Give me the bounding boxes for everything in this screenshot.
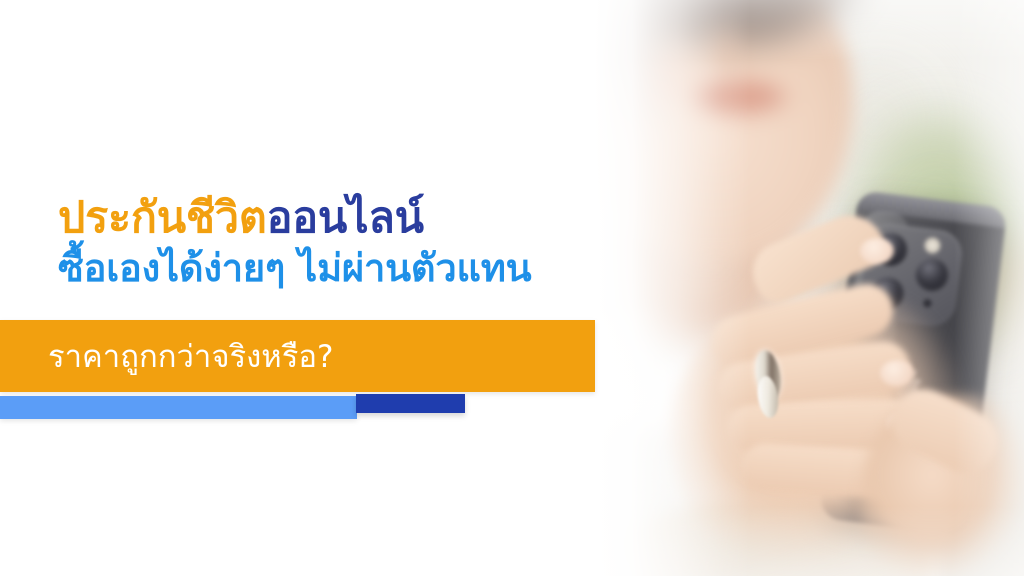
photo-fingernail xyxy=(860,238,894,264)
headline-text-insurance: ประกันชีวิต xyxy=(58,193,267,243)
headline-text-online: ออนไลน์ xyxy=(267,193,424,243)
camera-flash-icon xyxy=(924,237,942,255)
promo-banner: ประกันชีวิตออนไลน์ ซื้อเองได้ง่ายๆ ไม่ผ่… xyxy=(0,0,1024,576)
photo-woman-with-smartphone xyxy=(560,0,1024,576)
headline-line-2: ซื้อเองได้ง่ายๆ ไม่ผ่านตัวแทน xyxy=(58,248,531,288)
callout-band: ราคาถูกกว่าจริงหรือ? xyxy=(0,320,595,392)
photo-fade-right xyxy=(954,0,1024,576)
camera-microphone-icon xyxy=(923,299,932,308)
headline-line-1: ประกันชีวิตออนไลน์ xyxy=(58,196,531,242)
callout-band-text: ราคาถูกกว่าจริงหรือ? xyxy=(48,331,333,381)
accent-bar-dark-blue xyxy=(356,394,465,413)
headline-block: ประกันชีวิตออนไลน์ ซื้อเองได้ง่ายๆ ไม่ผ่… xyxy=(58,196,531,288)
accent-bar-light-blue xyxy=(0,396,357,419)
photo-fingernail xyxy=(880,360,914,386)
camera-lens-icon xyxy=(913,256,951,294)
hero-photo xyxy=(560,0,1024,576)
photo-fade-left xyxy=(560,0,750,576)
